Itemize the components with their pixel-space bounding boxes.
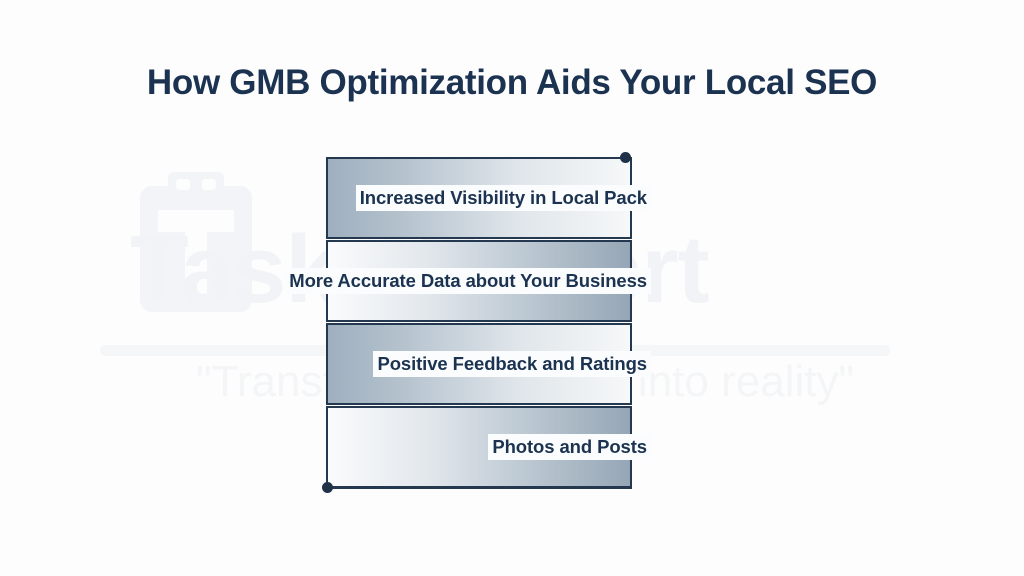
bar-row[interactable]: Positive Feedback and Ratings <box>326 323 632 405</box>
bottom-connector-line <box>330 487 632 489</box>
bar-label: Photos and Posts <box>488 434 651 460</box>
bar-row[interactable]: Photos and Posts <box>326 406 632 488</box>
infographic-canvas: Tasks Expert "Transform your ideas into … <box>0 0 1024 576</box>
top-connector-line <box>326 157 624 159</box>
bar-row[interactable]: More Accurate Data about Your Business <box>326 240 632 322</box>
bar-label: Increased Visibility in Local Pack <box>356 185 651 211</box>
bar-row[interactable]: Increased Visibility in Local Pack <box>326 157 632 239</box>
bottom-left-endpoint-dot <box>322 482 333 493</box>
top-right-endpoint-dot <box>620 152 631 163</box>
page-title: How GMB Optimization Aids Your Local SEO <box>0 63 1024 103</box>
bar-label: More Accurate Data about Your Business <box>285 268 651 294</box>
bar-label: Positive Feedback and Ratings <box>373 351 651 377</box>
